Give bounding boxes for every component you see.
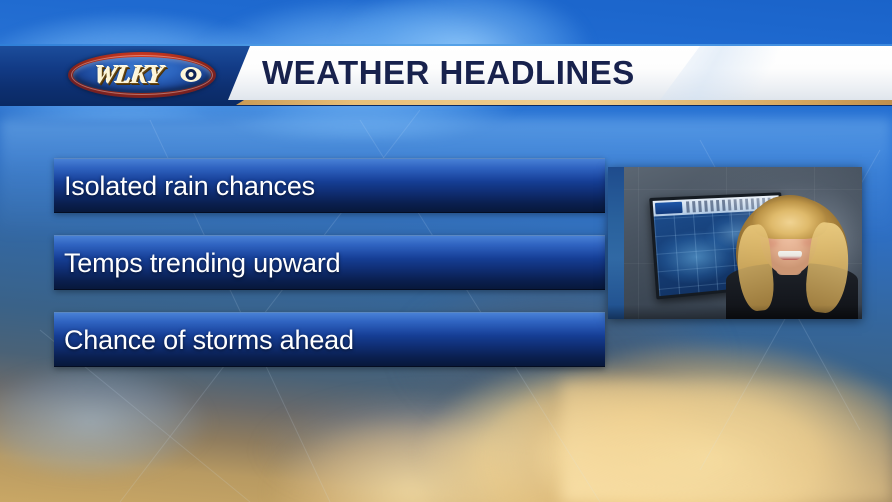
presenter-smile <box>778 251 802 260</box>
headline-bar: Chance of storms ahead <box>54 312 605 367</box>
headline-bar: Isolated rain chances <box>54 158 605 213</box>
headline-text: Isolated rain chances <box>54 171 315 202</box>
headline-bar: Temps trending upward <box>54 235 605 290</box>
radar-map-logo-badge <box>655 202 683 215</box>
cloud-mid-left <box>0 355 240 502</box>
header-accent-line <box>236 100 892 105</box>
headline-text: Temps trending upward <box>54 248 340 279</box>
inset-bottom-shadow <box>608 305 862 319</box>
studio-blue-panel <box>608 167 624 319</box>
cloud-golden-glow <box>562 382 892 502</box>
station-callsign: WLKY <box>65 52 191 98</box>
wlky-logo: WLKY <box>68 52 216 98</box>
page-title: WEATHER HEADLINES <box>262 46 635 100</box>
broadcast-graphic: WEATHER HEADLINES WLKY Isolated rain cha… <box>0 0 892 502</box>
cbs-eye-icon <box>180 66 202 83</box>
headline-text: Chance of storms ahead <box>54 325 354 356</box>
meteorologist-video-inset <box>608 167 862 319</box>
